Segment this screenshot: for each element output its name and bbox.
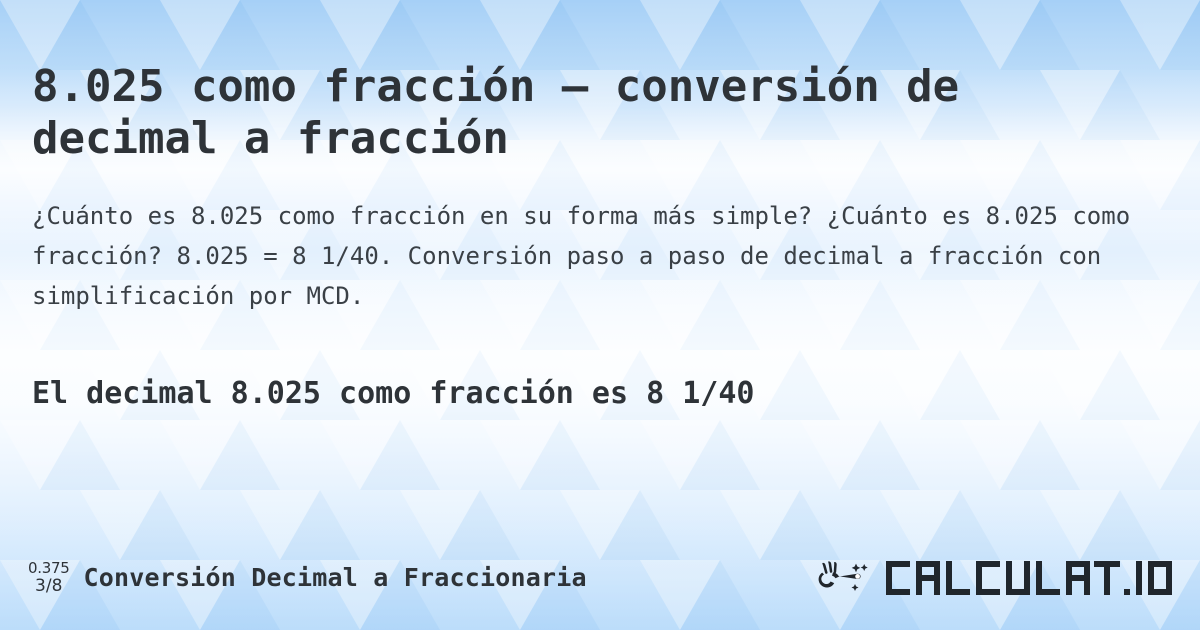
decimal-to-fraction-icon-decimal: 0.375	[28, 560, 69, 577]
hand-magic-wand-icon	[816, 558, 878, 598]
brand-wordmark	[884, 557, 1176, 599]
page-description: ¿Cuánto es 8.025 como fracción en su for…	[32, 196, 1147, 316]
answer-statement: El decimal 8.025 como fracción es 8 1/40	[32, 374, 1152, 414]
social-card: 8.025 como fracción – conversión de deci…	[0, 0, 1200, 630]
brand-logo[interactable]	[816, 557, 1176, 599]
decimal-to-fraction-icon-fraction: 3/8	[35, 577, 62, 596]
card-content: 8.025 como fracción – conversión de deci…	[0, 0, 1200, 630]
footer-section-title: Conversión Decimal a Fraccionaria	[83, 563, 586, 592]
page-title: 8.025 como fracción – conversión de deci…	[32, 61, 1152, 165]
decimal-to-fraction-icon: 0.375 3/8	[28, 560, 69, 596]
footer-branding-left: 0.375 3/8 Conversión Decimal a Fracciona…	[28, 560, 587, 596]
footer: 0.375 3/8 Conversión Decimal a Fracciona…	[0, 550, 1200, 606]
